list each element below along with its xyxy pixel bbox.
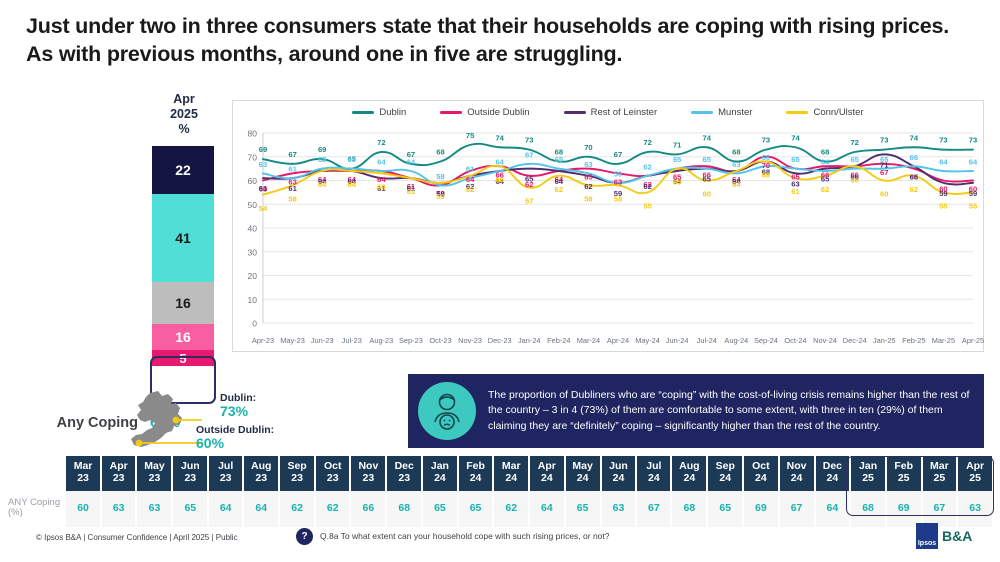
col-month: Dec bbox=[823, 460, 842, 472]
data-label: 61 bbox=[288, 184, 297, 193]
col-year: 24 bbox=[719, 472, 731, 484]
data-label: 64 bbox=[495, 158, 504, 167]
table-cell-any-coping: 65 bbox=[423, 491, 457, 528]
table-cell-any-coping: 64 bbox=[530, 491, 564, 528]
table-cell-any-coping: 64 bbox=[209, 491, 242, 528]
legend-label: Outside Dublin bbox=[467, 107, 529, 118]
any-coping-table: Mar23Apr23May23Jun23Jul23Aug23Sep23Oct23… bbox=[6, 456, 994, 527]
col-month: Sep bbox=[287, 460, 306, 472]
data-label: 75 bbox=[466, 131, 475, 140]
col-year: 24 bbox=[648, 472, 660, 484]
data-label: 54 bbox=[259, 204, 268, 213]
x-axis-tick-label: Oct-23 bbox=[429, 336, 451, 345]
bar-segment-somewhat-coping: 41 bbox=[152, 194, 214, 282]
y-axis-tick-label: 40 bbox=[248, 224, 258, 234]
data-label: 65 bbox=[791, 155, 800, 164]
x-axis-tick-label: Jan-25 bbox=[873, 336, 896, 345]
y-axis-tick-label: 30 bbox=[248, 247, 258, 257]
data-label: 66 bbox=[850, 175, 858, 184]
data-label: 74 bbox=[791, 133, 800, 142]
table-col-header: Nov23 bbox=[351, 456, 385, 491]
insight-banner-text: The proportion of Dubliners who are “cop… bbox=[488, 388, 972, 434]
x-axis-tick-label: Apr-23 bbox=[252, 336, 274, 345]
table-cell-any-coping: 67 bbox=[923, 491, 957, 528]
table-cell-any-coping: 69 bbox=[887, 491, 921, 528]
data-label: 74 bbox=[703, 133, 712, 142]
legend-label: Rest of Leinster bbox=[591, 107, 658, 118]
table-col-header: Feb24 bbox=[459, 456, 493, 491]
col-year: 24 bbox=[470, 472, 482, 484]
col-year: 25 bbox=[898, 472, 910, 484]
y-axis-tick-label: 10 bbox=[248, 295, 258, 305]
table-col-header: Dec24 bbox=[816, 456, 850, 491]
ipsos-ba-logo: Ipsos B&A bbox=[916, 523, 972, 549]
bar-column-header: Apr 2025 % bbox=[152, 92, 216, 136]
x-axis-tick-label: Apr-24 bbox=[607, 336, 629, 345]
stacked-bar: 22 41 16 16 5 bbox=[152, 146, 214, 366]
col-year: 23 bbox=[291, 472, 303, 484]
col-month: Aug bbox=[679, 460, 699, 472]
footer-question-text: Q.8a To what extent can your household c… bbox=[320, 531, 609, 541]
col-year: 23 bbox=[149, 472, 161, 484]
data-label: 60 bbox=[880, 190, 888, 199]
table-col-header: Aug24 bbox=[672, 456, 706, 491]
data-label: 62 bbox=[643, 162, 651, 171]
table-col-header: Feb25 bbox=[887, 456, 921, 491]
data-label: 63 bbox=[732, 160, 740, 169]
data-label: 65 bbox=[880, 155, 889, 164]
data-label: 74 bbox=[495, 133, 504, 142]
col-month: Sep bbox=[716, 460, 735, 472]
x-axis-tick-label: Jul-23 bbox=[342, 336, 362, 345]
data-label: 62 bbox=[910, 185, 918, 194]
x-axis-tick-label: Nov-23 bbox=[458, 336, 482, 345]
data-label: 71 bbox=[673, 140, 682, 149]
data-label: 62 bbox=[643, 182, 651, 191]
bar-header-year: 2025 bbox=[152, 107, 216, 122]
col-year: 23 bbox=[398, 472, 410, 484]
col-year: 23 bbox=[220, 472, 232, 484]
map-callout-outside-dublin: Outside Dublin: 60% bbox=[196, 424, 274, 451]
table-cell-any-coping: 68 bbox=[387, 491, 421, 528]
bar-segment-definitely-coping: 22 bbox=[152, 146, 214, 194]
data-label: 63 bbox=[377, 182, 385, 191]
data-label: 65 bbox=[703, 155, 712, 164]
bar-header-month: Apr bbox=[152, 92, 216, 107]
map-outside-value: 60% bbox=[196, 435, 274, 451]
table-cell-any-coping: 67 bbox=[780, 491, 814, 528]
data-label: 58 bbox=[436, 172, 444, 181]
data-label: 67 bbox=[525, 150, 533, 159]
data-label: 73 bbox=[880, 136, 888, 145]
data-label: 64 bbox=[821, 158, 830, 167]
data-label: 61 bbox=[407, 187, 416, 196]
col-month: Nov bbox=[358, 460, 378, 472]
table-col-header: Jul23 bbox=[209, 456, 242, 491]
data-label: 58 bbox=[614, 194, 622, 203]
y-axis-tick-label: 0 bbox=[252, 319, 257, 329]
col-month: Dec bbox=[395, 460, 414, 472]
data-label: 55 bbox=[939, 201, 948, 210]
data-label: 63 bbox=[259, 160, 267, 169]
table-cell-any-coping: 66 bbox=[351, 491, 385, 528]
x-axis-tick-label: Feb-25 bbox=[902, 336, 925, 345]
ipsos-logo-mark: Ipsos bbox=[916, 523, 938, 549]
legend-swatch bbox=[440, 111, 462, 114]
data-label: 68 bbox=[436, 148, 444, 157]
person-concerned-icon bbox=[418, 382, 476, 440]
x-axis-tick-label: Jun-24 bbox=[666, 336, 689, 345]
data-label: 55 bbox=[969, 201, 978, 210]
ireland-map-callout: Dublin: 73% Outside Dublin: 60% bbox=[128, 390, 408, 452]
footer-copyright: © Ipsos B&A | Consumer Confidence | Apri… bbox=[36, 533, 238, 542]
col-month: Jan bbox=[431, 460, 449, 472]
data-label: 65 bbox=[584, 173, 593, 182]
map-callout-dublin: Dublin: 73% bbox=[220, 392, 256, 419]
col-year: 24 bbox=[755, 472, 767, 484]
data-label: 58 bbox=[288, 194, 296, 203]
col-year: 24 bbox=[505, 472, 517, 484]
chart-legend: DublinOutside DublinRest of LeinsterMuns… bbox=[233, 107, 983, 118]
table-col-header: May23 bbox=[137, 456, 171, 491]
col-month: Oct bbox=[324, 460, 342, 472]
data-label: 59 bbox=[436, 192, 444, 201]
trend-line-chart: DublinOutside DublinRest of LeinsterMuns… bbox=[232, 100, 984, 352]
insight-banner: The proportion of Dubliners who are “cop… bbox=[408, 374, 984, 448]
y-axis-tick-label: 50 bbox=[248, 200, 258, 210]
table-col-header: Mar23 bbox=[66, 456, 100, 491]
col-month: May bbox=[572, 460, 592, 472]
footer: © Ipsos B&A | Consumer Confidence | Apri… bbox=[0, 528, 1000, 562]
data-label: 66 bbox=[910, 172, 918, 181]
col-month: Apr bbox=[538, 460, 556, 472]
table-cell-any-coping: 65 bbox=[708, 491, 742, 528]
table-row-label: ANY Coping (%) bbox=[8, 491, 64, 528]
col-month: Mar bbox=[74, 460, 93, 472]
col-month: Feb bbox=[466, 460, 485, 472]
col-month: Apr bbox=[966, 460, 984, 472]
col-month: Jan bbox=[859, 460, 877, 472]
data-label: 72 bbox=[643, 138, 651, 147]
chart-plot-area: 01020304050607080Apr-23May-23Jun-23Jul-2… bbox=[233, 125, 985, 353]
map-dublin-value: 73% bbox=[220, 403, 256, 419]
data-label: 58 bbox=[584, 194, 592, 203]
col-year: 25 bbox=[934, 472, 946, 484]
col-month: Mar bbox=[930, 460, 949, 472]
col-month: Jun bbox=[609, 460, 628, 472]
data-label: 64 bbox=[348, 180, 357, 189]
data-label: 57 bbox=[525, 197, 533, 206]
page-title: Just under two in three consumers state … bbox=[26, 12, 976, 69]
data-label: 64 bbox=[939, 158, 948, 167]
data-label: 73 bbox=[969, 136, 977, 145]
y-axis-tick-label: 20 bbox=[248, 271, 258, 281]
x-axis-tick-label: Feb-24 bbox=[547, 336, 570, 345]
table-col-header: Apr25 bbox=[958, 456, 992, 491]
table-cell-any-coping: 63 bbox=[102, 491, 136, 528]
col-year: 24 bbox=[577, 472, 589, 484]
data-label: 64 bbox=[969, 158, 978, 167]
data-label: 66 bbox=[910, 153, 918, 162]
col-year: 25 bbox=[969, 472, 981, 484]
data-label: 61 bbox=[259, 184, 268, 193]
table-col-header: Aug23 bbox=[244, 456, 278, 491]
table-col-header: Apr23 bbox=[102, 456, 136, 491]
col-year: 23 bbox=[255, 472, 267, 484]
table-col-header: Jan25 bbox=[851, 456, 885, 491]
data-label: 66 bbox=[495, 175, 503, 184]
col-month: Mar bbox=[502, 460, 521, 472]
data-label: 65 bbox=[673, 155, 682, 164]
table-cell-any-coping: 62 bbox=[280, 491, 314, 528]
data-label: 68 bbox=[762, 171, 770, 180]
table-col-header: Oct23 bbox=[316, 456, 349, 491]
data-label: 65 bbox=[555, 155, 564, 164]
data-label: 66 bbox=[762, 153, 770, 162]
data-label: 65 bbox=[525, 175, 534, 184]
table-col-header: Oct24 bbox=[744, 456, 777, 491]
legend-swatch bbox=[564, 111, 586, 114]
x-axis-tick-label: May-23 bbox=[280, 336, 305, 345]
table-cell-any-coping: 64 bbox=[244, 491, 278, 528]
data-label: 63 bbox=[614, 177, 622, 186]
col-month: Feb bbox=[894, 460, 913, 472]
table-cell-any-coping: 63 bbox=[958, 491, 992, 528]
data-label: 69 bbox=[318, 145, 326, 154]
table-col-header: Apr24 bbox=[530, 456, 564, 491]
table-col-header: May24 bbox=[566, 456, 600, 491]
table-col-header: Jul24 bbox=[637, 456, 670, 491]
data-label: 64 bbox=[407, 158, 416, 167]
col-year: 24 bbox=[434, 472, 446, 484]
data-label: 67 bbox=[288, 150, 296, 159]
col-year: 24 bbox=[791, 472, 803, 484]
data-label: 64 bbox=[318, 180, 327, 189]
table-col-header: Dec23 bbox=[387, 456, 421, 491]
bar-segment-unsure: 16 bbox=[152, 282, 214, 324]
table-cell-any-coping: 63 bbox=[602, 491, 636, 528]
col-year: 24 bbox=[827, 472, 839, 484]
col-year: 23 bbox=[77, 472, 89, 484]
data-label: 61 bbox=[791, 187, 800, 196]
data-label: 73 bbox=[762, 136, 770, 145]
table-cell-any-coping: 65 bbox=[459, 491, 493, 528]
col-year: 24 bbox=[541, 472, 553, 484]
data-label: 72 bbox=[377, 138, 385, 147]
data-label: 62 bbox=[466, 185, 474, 194]
data-label: 70 bbox=[584, 143, 592, 152]
data-label: 55 bbox=[643, 201, 652, 210]
data-label: 68 bbox=[821, 148, 829, 157]
y-axis-tick-label: 60 bbox=[248, 176, 258, 186]
legend-label: Munster bbox=[718, 107, 752, 118]
data-label: 65 bbox=[850, 155, 859, 164]
table-row: ANY Coping (%) 6063636564646262666865656… bbox=[8, 491, 992, 528]
col-year: 23 bbox=[184, 472, 196, 484]
data-label: 65 bbox=[673, 178, 682, 187]
legend-label: Conn/Ulster bbox=[813, 107, 863, 118]
table-cell-any-coping: 62 bbox=[316, 491, 349, 528]
col-month: Jul bbox=[646, 460, 661, 472]
table-cell-any-coping: 68 bbox=[851, 491, 885, 528]
x-axis-tick-label: Jun-23 bbox=[311, 336, 334, 345]
data-label: 63 bbox=[584, 160, 592, 169]
table-cell-any-coping: 64 bbox=[816, 491, 850, 528]
data-label: 59 bbox=[969, 189, 977, 198]
data-label: 62 bbox=[584, 182, 592, 191]
table-cell-any-coping: 69 bbox=[744, 491, 777, 528]
col-month: Aug bbox=[251, 460, 271, 472]
data-label: 61 bbox=[288, 165, 297, 174]
x-axis-tick-label: Dec-23 bbox=[488, 336, 512, 345]
data-label: 59 bbox=[939, 189, 947, 198]
col-month: Apr bbox=[110, 460, 128, 472]
table-cell-any-coping: 67 bbox=[637, 491, 670, 528]
x-axis-tick-label: Sep-24 bbox=[754, 336, 778, 345]
bar-segment-definite-difficulty: 5 bbox=[152, 350, 214, 366]
data-label: 65 bbox=[318, 155, 327, 164]
bar-header-unit: % bbox=[152, 122, 216, 137]
col-month: Nov bbox=[787, 460, 807, 472]
table-cell-any-coping: 60 bbox=[66, 491, 100, 528]
table-col-header: Mar24 bbox=[494, 456, 528, 491]
data-label: 73 bbox=[939, 136, 947, 145]
legend-item-rest-of-leinster[interactable]: Rest of Leinster bbox=[564, 107, 658, 118]
table-col-header: Sep24 bbox=[708, 456, 742, 491]
table-col-header: Nov24 bbox=[780, 456, 814, 491]
table-corner-cell bbox=[8, 456, 64, 491]
col-year: 23 bbox=[327, 472, 339, 484]
table-col-header: Jan24 bbox=[423, 456, 457, 491]
y-axis-tick-label: 70 bbox=[248, 152, 258, 162]
data-label: 73 bbox=[525, 136, 533, 145]
table-cell-any-coping: 62 bbox=[494, 491, 528, 528]
x-axis-tick-label: Aug-24 bbox=[724, 336, 748, 345]
table-cell-any-coping: 65 bbox=[566, 491, 600, 528]
data-label: 61 bbox=[466, 165, 475, 174]
col-year: 25 bbox=[862, 472, 874, 484]
x-axis-tick-label: Mar-24 bbox=[577, 336, 600, 345]
col-year: 23 bbox=[113, 472, 125, 484]
col-month: Oct bbox=[752, 460, 770, 472]
table-cell-any-coping: 65 bbox=[173, 491, 207, 528]
data-label: 72 bbox=[850, 138, 858, 147]
table-col-header: Sep23 bbox=[280, 456, 314, 491]
x-axis-tick-label: Mar-25 bbox=[932, 336, 955, 345]
table-cell-any-coping: 68 bbox=[672, 491, 706, 528]
x-axis-tick-label: Jan-24 bbox=[518, 336, 541, 345]
legend-label: Dublin bbox=[379, 107, 406, 118]
x-axis-tick-label: Oct-24 bbox=[784, 336, 806, 345]
x-axis-tick-label: Apr-25 bbox=[962, 336, 984, 345]
x-axis-tick-label: May-24 bbox=[635, 336, 660, 345]
data-label: 69 bbox=[259, 145, 267, 154]
x-axis-tick-label: Sep-23 bbox=[399, 336, 423, 345]
x-axis-tick-label: Jul-24 bbox=[697, 336, 717, 345]
table-cell-any-coping: 63 bbox=[137, 491, 171, 528]
legend-item-dublin[interactable]: Dublin bbox=[352, 107, 406, 118]
x-axis-tick-label: Dec-24 bbox=[843, 336, 867, 345]
ireland-map-icon bbox=[128, 390, 202, 452]
legend-item-conn-ulster[interactable]: Conn/Ulster bbox=[786, 107, 863, 118]
question-icon: ? bbox=[296, 528, 313, 545]
legend-swatch bbox=[786, 111, 808, 114]
table-col-header: Jun23 bbox=[173, 456, 207, 491]
ba-logo-text: B&A bbox=[942, 528, 972, 544]
legend-swatch bbox=[691, 111, 713, 114]
data-label: 60 bbox=[703, 190, 711, 199]
col-month: May bbox=[144, 460, 164, 472]
table-col-header: Jun24 bbox=[602, 456, 636, 491]
x-axis-tick-label: Aug-23 bbox=[369, 336, 393, 345]
data-label: 62 bbox=[555, 185, 563, 194]
table-header-row: Mar23Apr23May23Jun23Jul23Aug23Sep23Oct23… bbox=[8, 456, 992, 491]
x-axis-tick-label: Nov-24 bbox=[813, 336, 837, 345]
data-label: 67 bbox=[614, 150, 622, 159]
legend-swatch bbox=[352, 111, 374, 114]
col-year: 24 bbox=[613, 472, 625, 484]
col-month: Jun bbox=[181, 460, 200, 472]
data-label: 59 bbox=[614, 169, 622, 178]
data-label: 65 bbox=[348, 155, 357, 164]
data-label: 74 bbox=[910, 133, 919, 142]
data-label: 65 bbox=[821, 175, 830, 184]
col-month: Jul bbox=[218, 460, 233, 472]
data-label: 64 bbox=[377, 158, 386, 167]
data-label: 65 bbox=[703, 175, 712, 184]
data-label: 68 bbox=[732, 148, 740, 157]
legend-item-munster[interactable]: Munster bbox=[691, 107, 752, 118]
legend-item-outside-dublin[interactable]: Outside Dublin bbox=[440, 107, 529, 118]
data-label: 62 bbox=[821, 185, 829, 194]
table-col-header: Mar25 bbox=[923, 456, 957, 491]
col-year: 24 bbox=[684, 472, 696, 484]
y-axis-tick-label: 80 bbox=[248, 129, 258, 139]
bar-segment-some-difficulty: 16 bbox=[152, 324, 214, 350]
data-label: 64 bbox=[732, 180, 741, 189]
col-year: 23 bbox=[363, 472, 375, 484]
